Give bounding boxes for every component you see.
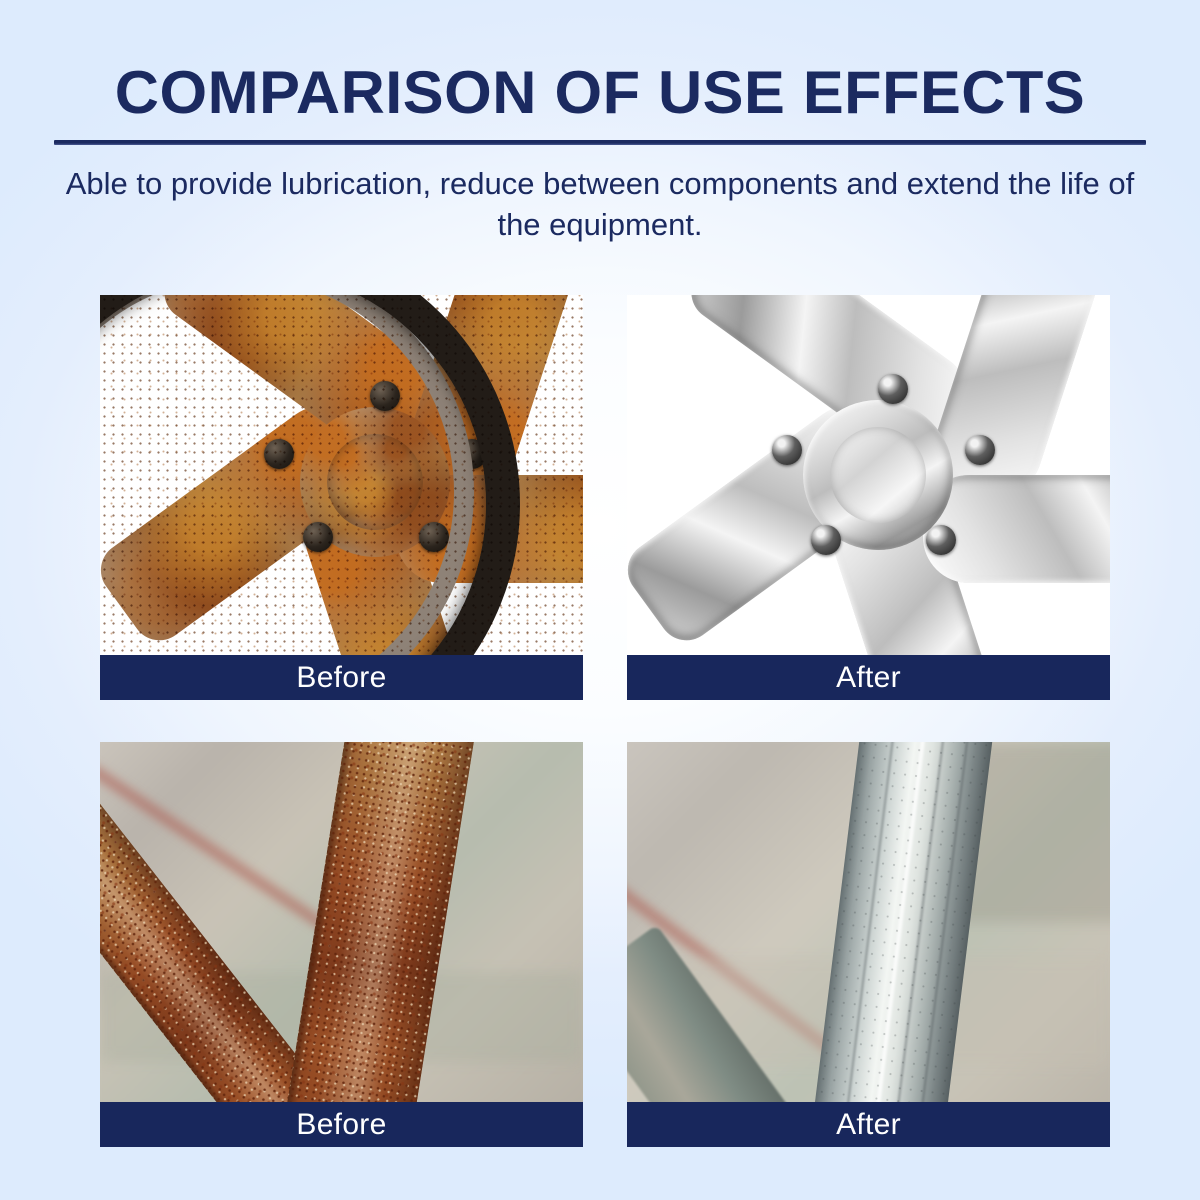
rusty-pipe-illustration [100, 742, 583, 1102]
label-before-pipe: Before [100, 1102, 583, 1147]
clean-pipe-illustration [627, 742, 1110, 1102]
photo-wheel-after [627, 295, 1110, 655]
rusty-wheel-illustration [100, 295, 583, 655]
infographic-page: COMPARISON OF USE EFFECTS Able to provid… [0, 0, 1200, 1200]
label-before-wheel: Before [100, 655, 583, 700]
label-after-pipe: After [627, 1102, 1110, 1147]
title-divider [54, 140, 1146, 145]
label-after-wheel: After [627, 655, 1110, 700]
comparison-card-pipe-before: Before [100, 742, 583, 1147]
comparison-card-pipe-after: After [627, 742, 1110, 1147]
photo-wheel-before [100, 295, 583, 655]
clean-wheel-illustration [627, 295, 1110, 655]
header: COMPARISON OF USE EFFECTS Able to provid… [0, 0, 1200, 245]
page-title: COMPARISON OF USE EFFECTS [0, 62, 1200, 124]
comparison-card-wheel-after: After [627, 295, 1110, 700]
photo-pipe-after [627, 742, 1110, 1102]
page-subtitle: Able to provide lubrication, reduce betw… [55, 163, 1145, 245]
photo-pipe-before [100, 742, 583, 1102]
comparison-card-wheel-before: Before [100, 295, 583, 700]
comparison-grid: Before After [100, 295, 1110, 1147]
